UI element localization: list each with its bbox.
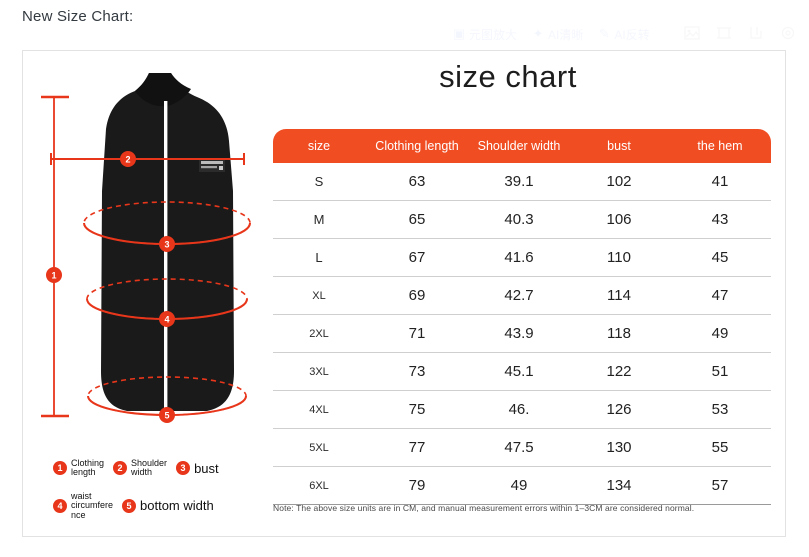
table-body: S6339.110241M6540.310643L6741.611045XL69…	[273, 163, 771, 505]
cell-clothing-length: 75	[365, 401, 469, 418]
size-table: size Clothing length Shoulder width bust…	[273, 129, 771, 505]
cell-shoulder-width: 42.7	[469, 287, 569, 304]
toolbar-item-yuantu-fangda[interactable]: ▣ 元图放大	[452, 26, 517, 43]
legend-label-clothing-length: Clothinglength	[71, 459, 104, 478]
cell-shoulder-width: 41.6	[469, 249, 569, 266]
table-row: 5XL7747.513055	[273, 429, 771, 467]
cell-bust: 118	[569, 325, 669, 342]
legend-badge-2: 2	[113, 461, 127, 475]
cell-shoulder-width: 39.1	[469, 173, 569, 190]
image-icon[interactable]	[684, 26, 702, 42]
cell-size: M	[273, 212, 365, 227]
svg-text:1: 1	[51, 271, 56, 281]
cell-the-hem: 51	[669, 363, 771, 380]
cell-size: S	[273, 174, 365, 189]
cell-size: 6XL	[273, 480, 365, 492]
cell-size: 4XL	[273, 404, 365, 416]
cell-the-hem: 53	[669, 401, 771, 418]
cell-shoulder-width: 40.3	[469, 211, 569, 228]
table-row: 6XL794913457	[273, 467, 771, 505]
column-header-shoulder-width: Shoulder width	[469, 139, 569, 153]
sparkle-icon: ✦	[531, 27, 545, 41]
cell-shoulder-width: 43.9	[469, 325, 569, 342]
cell-size: 2XL	[273, 328, 365, 340]
legend-badge-3: 3	[176, 461, 190, 475]
legend-item-clothing-length: 1 Clothinglength	[53, 459, 104, 478]
cell-size: 5XL	[273, 442, 365, 454]
toolbar-label-ai-fanzhuan: AI反转	[614, 26, 649, 43]
legend-item-bottom-width: 5 bottom width	[122, 499, 214, 513]
table-row: 3XL7345.112251	[273, 353, 771, 391]
table-row: S6339.110241	[273, 163, 771, 201]
legend-label-shoulder-width: Shoulderwidth	[131, 459, 167, 478]
table-row: M6540.310643	[273, 201, 771, 239]
cell-the-hem: 43	[669, 211, 771, 228]
watermark-toolbar: ▣ 元图放大 ✦ AI清晰 ✎ AI反转	[452, 22, 798, 46]
camera-target-icon[interactable]	[780, 26, 798, 42]
cell-the-hem: 57	[669, 477, 771, 494]
table-header-row: size Clothing length Shoulder width bust…	[273, 129, 771, 163]
toolbar-item-ai-qingxi[interactable]: ✦ AI清晰	[531, 26, 583, 43]
toolbar-label-ai-qingxi: AI清晰	[548, 26, 583, 43]
legend-label-bust: bust	[194, 462, 219, 476]
legend-badge-5: 5	[122, 499, 136, 513]
cell-bust: 126	[569, 401, 669, 418]
legend-item-bust: 3 bust	[176, 461, 219, 475]
legend-badge-4: 4	[53, 499, 67, 513]
cell-clothing-length: 73	[365, 363, 469, 380]
legend-label-bottom-width: bottom width	[140, 499, 214, 513]
cell-clothing-length: 77	[365, 439, 469, 456]
cell-clothing-length: 67	[365, 249, 469, 266]
table-note: Note: The above size units are in CM, an…	[273, 503, 773, 513]
svg-text:3: 3	[164, 240, 169, 250]
size-chart-card: size chart	[22, 50, 786, 537]
column-header-bust: bust	[569, 139, 669, 153]
page-title: New Size Chart:	[22, 8, 133, 25]
crop-frame-icon[interactable]	[716, 26, 734, 42]
cell-size: L	[273, 250, 365, 265]
svg-text:4: 4	[164, 315, 169, 325]
legend-row: 4 waistcircumference 5 bottom width	[53, 492, 293, 520]
cell-the-hem: 41	[669, 173, 771, 190]
toolbar-item-ai-fanzhuan[interactable]: ✎ AI反转	[597, 26, 649, 43]
vest-measurement-diagram: 1 2 3 4 5	[31, 71, 281, 471]
toolbar-label-yuantu-fangda: 元图放大	[469, 26, 517, 43]
cell-size: 3XL	[273, 366, 365, 378]
table-row: 2XL7143.911849	[273, 315, 771, 353]
legend-item-shoulder-width: 2 Shoulderwidth	[113, 459, 167, 478]
svg-text:2: 2	[125, 155, 130, 165]
pen-icon: ✎	[597, 27, 611, 41]
cell-shoulder-width: 45.1	[469, 363, 569, 380]
cell-shoulder-width: 49	[469, 477, 569, 494]
table-row: XL6942.711447	[273, 277, 771, 315]
cell-bust: 130	[569, 439, 669, 456]
cell-the-hem: 55	[669, 439, 771, 456]
cell-shoulder-width: 47.5	[469, 439, 569, 456]
cell-shoulder-width: 46.	[469, 401, 569, 418]
cell-clothing-length: 65	[365, 211, 469, 228]
magnify-icon: ▣	[452, 27, 466, 41]
cell-clothing-length: 79	[365, 477, 469, 494]
column-header-clothing-length: Clothing length	[365, 139, 469, 153]
cell-the-hem: 45	[669, 249, 771, 266]
cell-clothing-length: 63	[365, 173, 469, 190]
measurement-legend: 1 Clothinglength 2 Shoulderwidth 3 bust …	[53, 459, 293, 534]
legend-item-waist-circumference: 4 waistcircumference	[53, 492, 113, 520]
cell-bust: 102	[569, 173, 669, 190]
column-header-size: size	[273, 139, 365, 153]
chart-title: size chart	[263, 59, 753, 95]
cell-size: XL	[273, 290, 365, 302]
legend-badge-1: 1	[53, 461, 67, 475]
table-row: L6741.611045	[273, 239, 771, 277]
cell-clothing-length: 69	[365, 287, 469, 304]
cell-bust: 122	[569, 363, 669, 380]
legend-row: 1 Clothinglength 2 Shoulderwidth 3 bust	[53, 459, 293, 478]
column-header-the-hem: the hem	[669, 139, 771, 153]
cell-bust: 106	[569, 211, 669, 228]
cell-clothing-length: 71	[365, 325, 469, 342]
cell-the-hem: 47	[669, 287, 771, 304]
cell-the-hem: 49	[669, 325, 771, 342]
legend-label-waist-circumference: waistcircumference	[71, 492, 113, 520]
cell-bust: 114	[569, 287, 669, 304]
table-row: 4XL7546.12653	[273, 391, 771, 429]
cell-bust: 110	[569, 249, 669, 266]
svg-text:5: 5	[164, 411, 169, 421]
cell-bust: 134	[569, 477, 669, 494]
flip-frame-icon[interactable]	[748, 26, 766, 42]
